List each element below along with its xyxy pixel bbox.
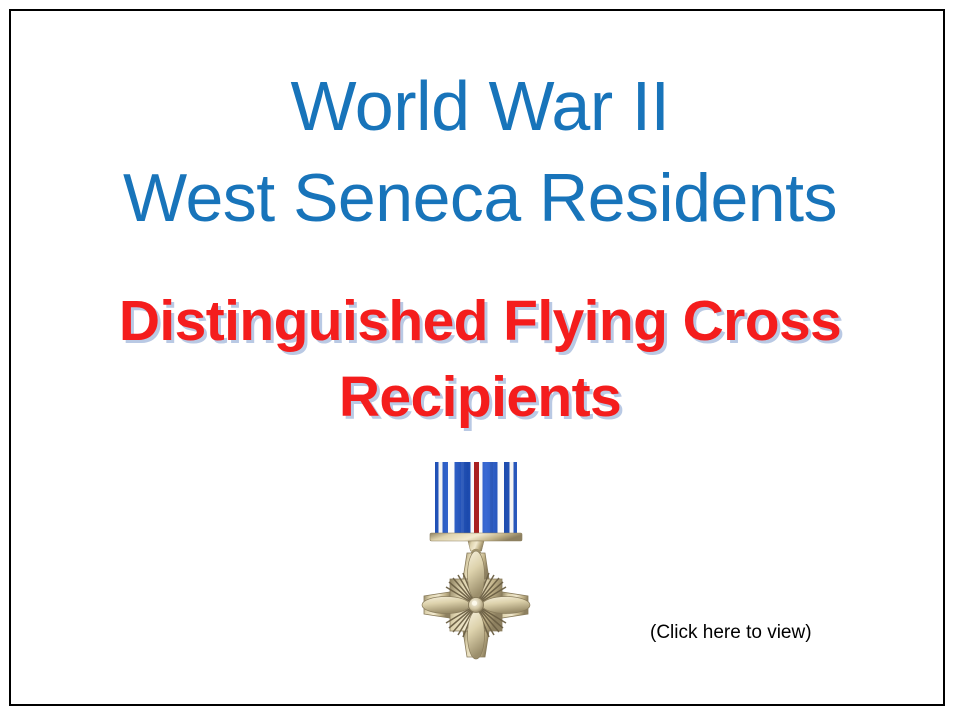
page-title: World War II West Seneca Residents [0, 60, 960, 244]
title-line-1: World War II [0, 60, 960, 152]
page-subtitle: Distinguished Flying Cross Recipients [0, 283, 960, 435]
subtitle-line-2: Recipients [0, 359, 960, 435]
distinguished-flying-cross-medal-icon[interactable] [406, 455, 546, 670]
slide-canvas: World War II West Seneca Residents Disti… [0, 0, 960, 720]
title-line-2: West Seneca Residents [0, 152, 960, 244]
subtitle-line-1: Distinguished Flying Cross [0, 283, 960, 359]
medal-cross [422, 551, 530, 659]
medal-ribbon [435, 462, 517, 534]
click-here-to-view-hint[interactable]: (Click here to view) [650, 621, 812, 645]
